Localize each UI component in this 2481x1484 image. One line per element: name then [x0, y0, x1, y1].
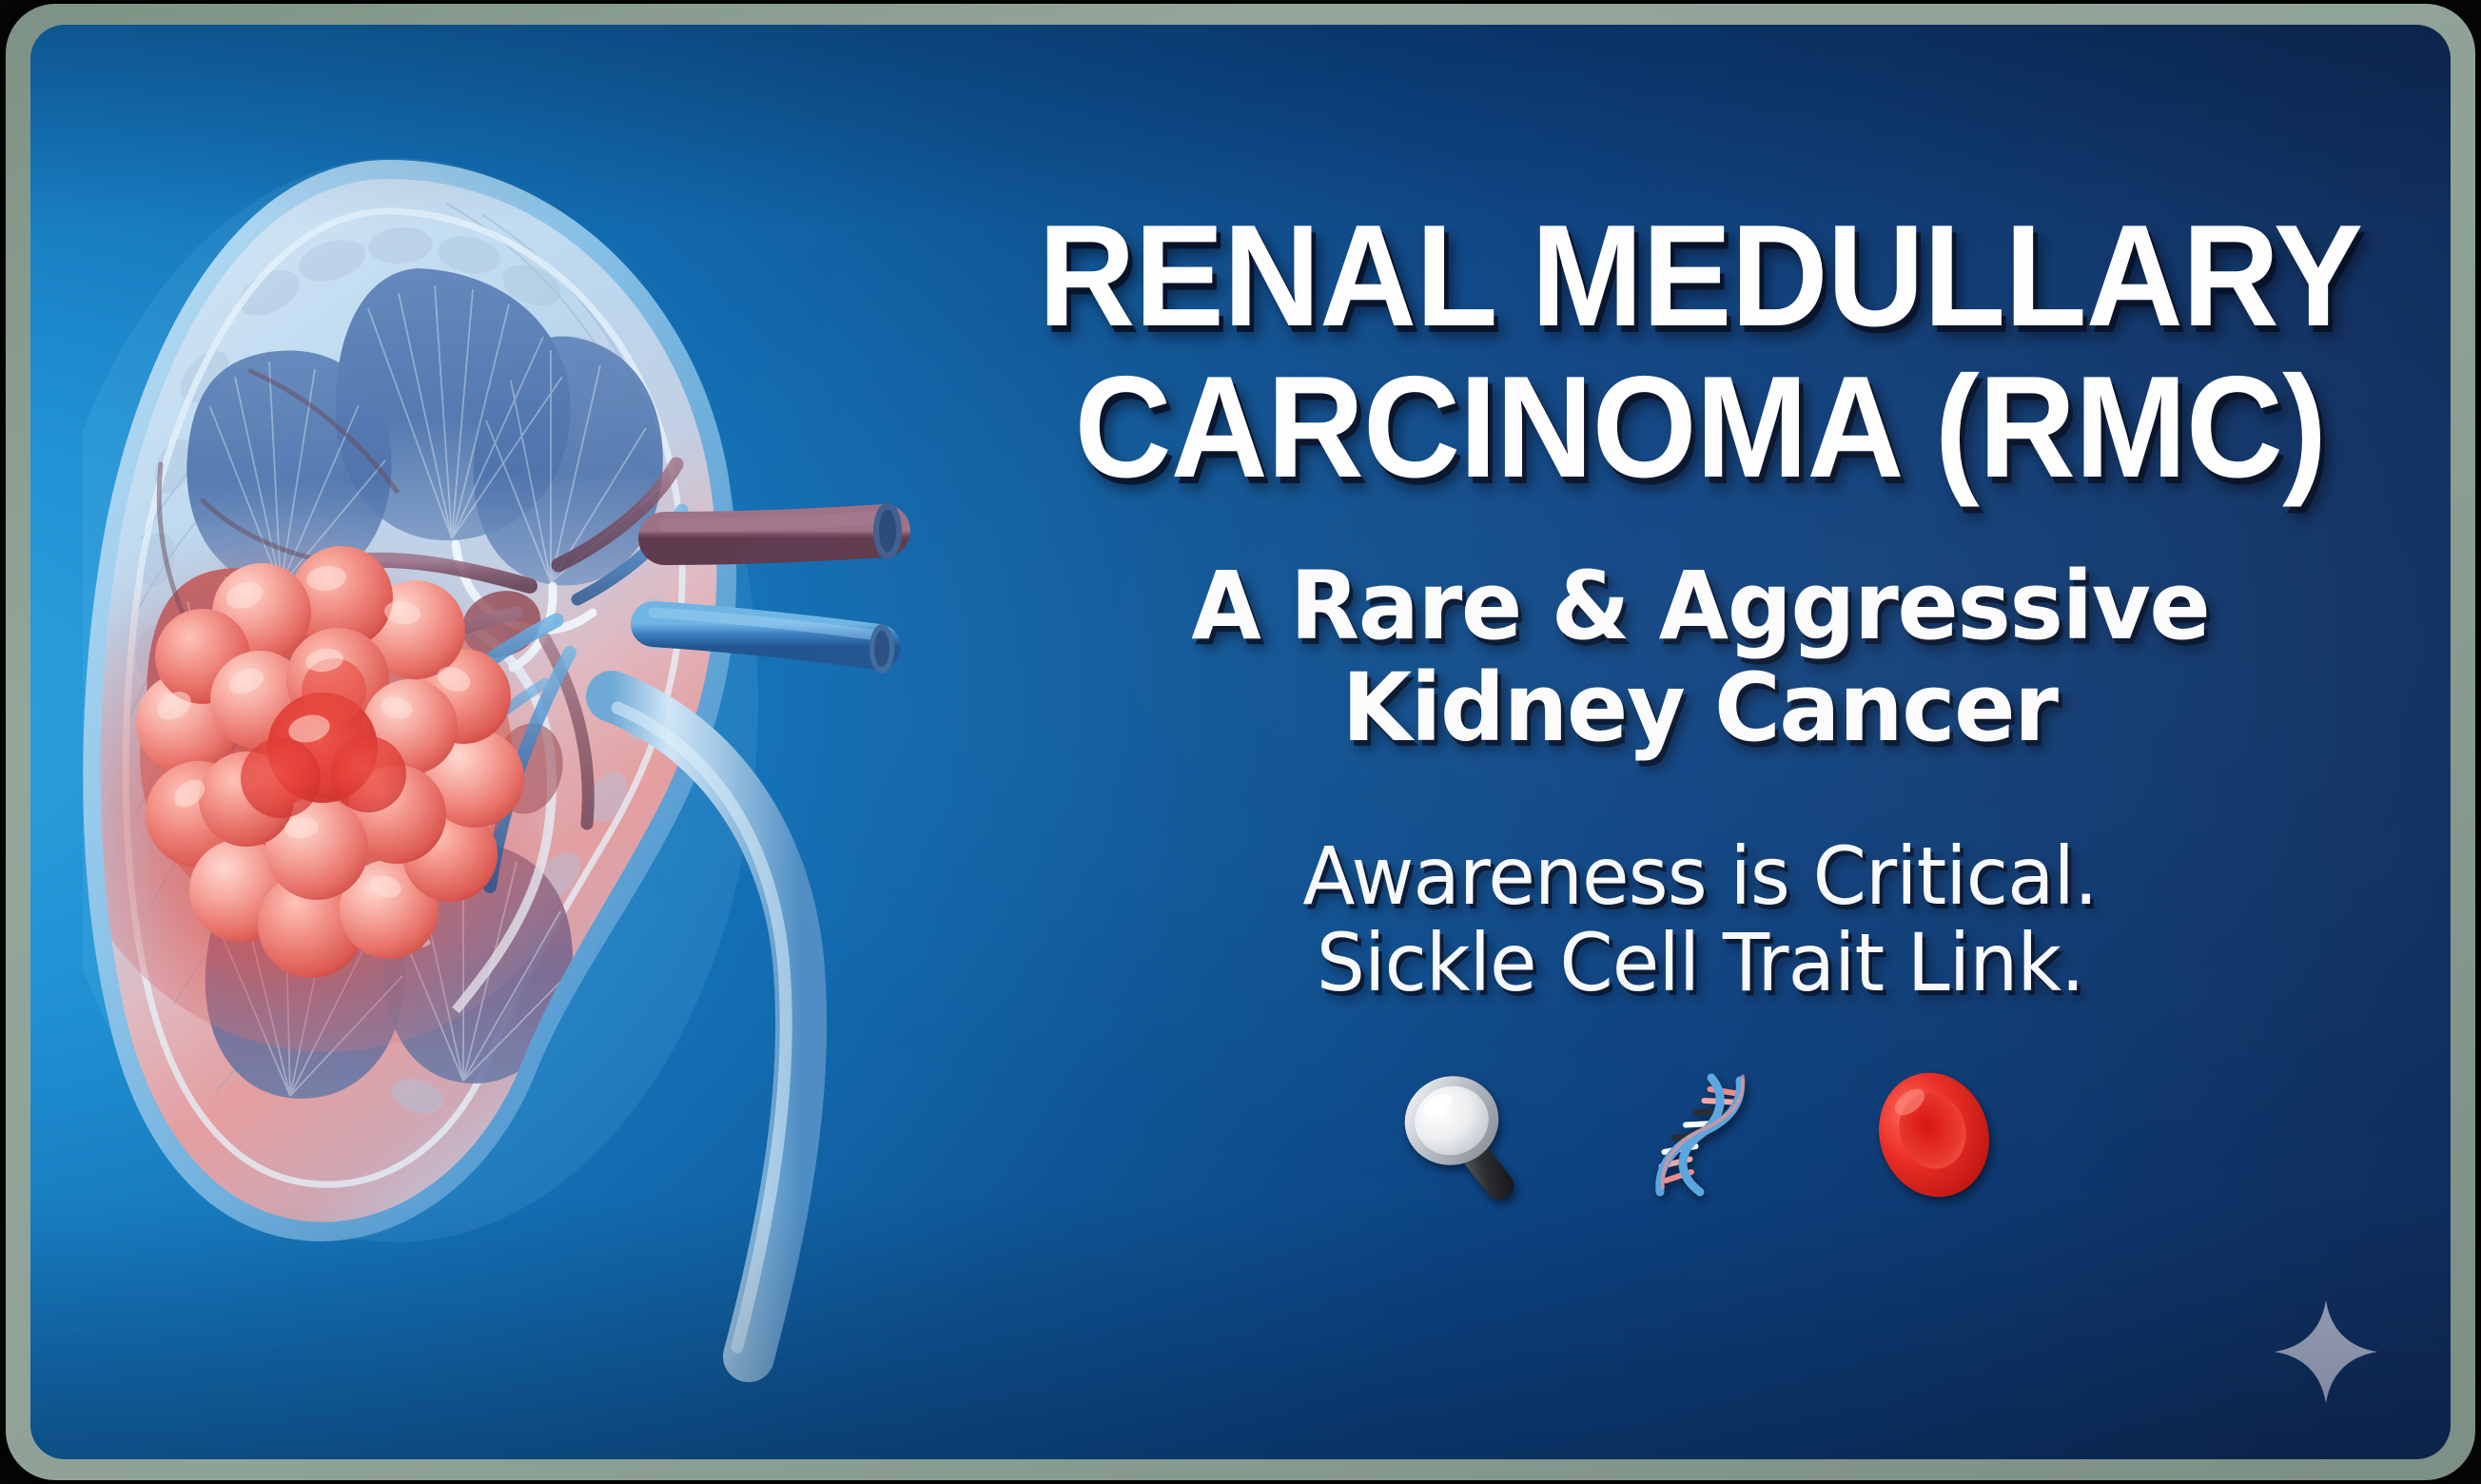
poster-bevel: RENAL MEDULLARY CARCINOMA (RMC) A Rare &… — [6, 4, 2475, 1480]
poster-frame: RENAL MEDULLARY CARCINOMA (RMC) A Rare &… — [0, 0, 2481, 1484]
red-blood-cell-icon — [1863, 1064, 2005, 1206]
subtitle-line-2: Kidney Cancer — [1342, 661, 2058, 757]
subtitle-line-1: A Rare & Aggressive — [1191, 559, 2209, 655]
dna-helix-icon — [1629, 1064, 1771, 1206]
poster-text-column: RENAL MEDULLARY CARCINOMA (RMC) A Rare &… — [925, 25, 2451, 1459]
tagline-line-1: Awareness is Critical. — [1302, 835, 2097, 918]
sparkle-icon — [2270, 1296, 2382, 1408]
page-title-line-2: CARCINOMA (RMC) — [1074, 362, 2326, 493]
poster-card: RENAL MEDULLARY CARCINOMA (RMC) A Rare &… — [30, 25, 2451, 1459]
tagline-line-2: Sickle Cell Trait Link. — [1317, 922, 2084, 1005]
page-title-line-1: RENAL MEDULLARY — [1038, 211, 2362, 342]
symbol-icon-row — [1395, 1064, 2005, 1206]
kidney-cross-section-with-tumor-illustration — [83, 91, 939, 1414]
magnifying-glass-icon — [1395, 1064, 1537, 1206]
